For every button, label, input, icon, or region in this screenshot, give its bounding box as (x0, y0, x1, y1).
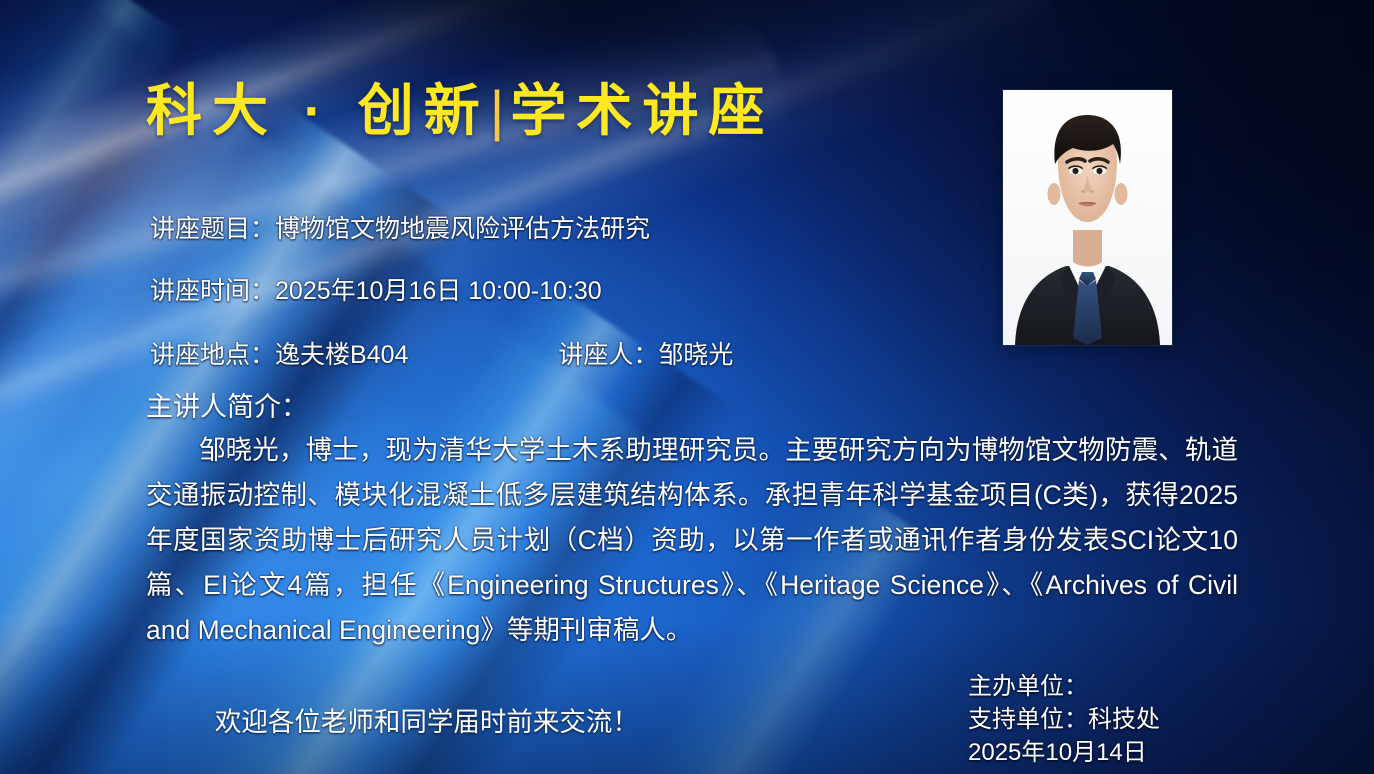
bio-paragraph: 邹晓光，博士，现为清华大学土木系助理研究员。主要研究方向为博物馆文物防震、轨道交… (146, 428, 1238, 653)
lecture-title-value: 博物馆文物地震风险评估方法研究 (275, 215, 650, 243)
publish-date: 2025年10月14日 (968, 736, 1160, 769)
organizer-block: 主办单位： 支持单位：科技处 2025年10月14日 (968, 670, 1160, 769)
lecture-title-label: 讲座题目： (150, 215, 275, 243)
poster-content: 科大 · 创新|学术讲座 讲座题目：博物馆文物地震风险评估方法研究 讲座时间：2… (0, 0, 1374, 774)
bio-heading: 主讲人简介： (146, 385, 308, 424)
speaker-value: 邹晓光 (658, 341, 733, 369)
speaker-portrait-icon (1003, 90, 1172, 345)
page-title: 科大 · 创新|学术讲座 (146, 83, 774, 139)
lecture-place-row: 讲座地点：逸夫楼B404讲座人：邹晓光 (150, 335, 733, 371)
welcome-note: 欢迎各位老师和同学届时前来交流！ (146, 700, 639, 739)
host-organization: 主办单位： (968, 670, 1160, 703)
lecture-place-label: 讲座地点： (150, 341, 275, 369)
lecture-poster: 科大 · 创新|学术讲座 讲座题目：博物馆文物地震风险评估方法研究 讲座时间：2… (0, 0, 1374, 774)
lecture-time-label: 讲座时间： (150, 277, 275, 305)
lecture-time-row: 讲座时间：2025年10月16日 10:00-10:30 (150, 271, 602, 307)
lecture-time-value: 2025年10月16日 10:00-10:30 (275, 277, 602, 305)
title-suffix: 学术讲座 (510, 79, 774, 142)
lecture-title-row: 讲座题目：博物馆文物地震风险评估方法研究 (150, 209, 650, 245)
speaker-label: 讲座人： (558, 341, 658, 369)
title-main: 科大 · 创新 (146, 79, 490, 142)
support-organization: 支持单位：科技处 (968, 703, 1160, 736)
title-separator-icon: | (490, 79, 511, 142)
bio-body: 邹晓光，博士，现为清华大学土木系助理研究员。主要研究方向为博物馆文物防震、轨道交… (146, 428, 1238, 653)
speaker-photo (1003, 90, 1172, 345)
lecture-place-value: 逸夫楼B404 (275, 341, 408, 369)
